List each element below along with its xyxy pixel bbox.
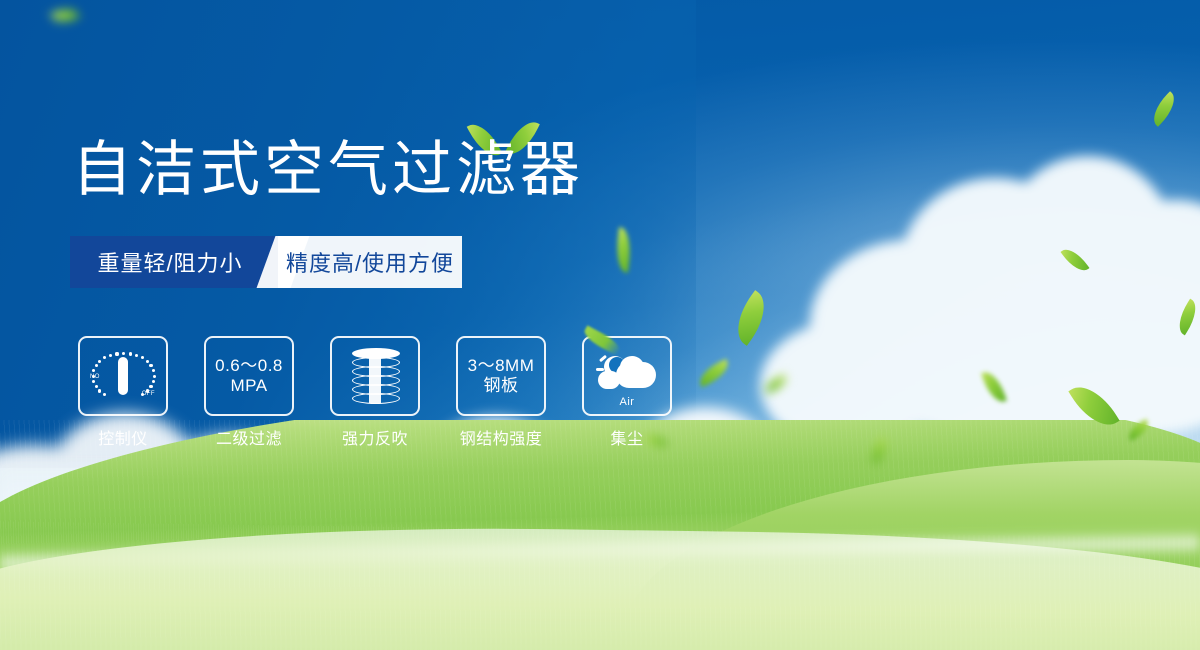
feature-icon-box: 3～8MM 钢板 <box>456 336 546 416</box>
feature-icon-box: NO OFF <box>78 336 168 416</box>
feature-icon-box: Air <box>582 336 672 416</box>
steel-material: 钢板 <box>468 376 535 396</box>
filter-coil-icon <box>349 347 401 405</box>
feature-label: 二级过滤 <box>216 425 282 449</box>
cloud-main-body <box>616 362 656 388</box>
feature-label: 钢结构强度 <box>460 425 543 449</box>
grass-foreground-texture <box>0 520 1200 650</box>
grass-foreground <box>0 520 1200 650</box>
steel-thickness: 3～8MM <box>468 356 535 375</box>
pressure-unit: MPA <box>215 376 283 396</box>
feature-label: 控制仪 <box>98 425 148 449</box>
subtitle-secondary-panel: 精度高/使用方便 <box>278 236 462 288</box>
pressure-range: 0.6～0.8 <box>215 356 283 375</box>
feature-item-steel[interactable]: 3～8MM 钢板 钢结构强度 <box>458 336 544 449</box>
feature-item-filtration[interactable]: 0.6～0.8 MPA 二级过滤 <box>206 336 292 449</box>
feature-icon-box <box>330 336 420 416</box>
feature-item-backblow[interactable]: 强力反吹 <box>332 336 418 449</box>
subtitle-secondary-text: 精度高/使用方便 <box>286 246 454 278</box>
air-cloud-icon: Air <box>596 348 658 404</box>
feature-item-controller[interactable]: NO OFF 控制仪 <box>80 336 166 449</box>
steel-plate-text-icon: 3～8MM 钢板 <box>468 356 535 396</box>
feature-list: NO OFF 控制仪 0.6～0.8 MPA 二级过滤 <box>80 336 670 449</box>
gauge-on-label: NO <box>90 374 100 380</box>
feature-label: 强力反吹 <box>342 425 408 449</box>
air-badge-label: Air <box>596 396 658 408</box>
feature-item-dust[interactable]: Air 集尘 <box>584 336 670 449</box>
gauge-off-label: OFF <box>142 391 155 397</box>
grass-field <box>0 420 1200 650</box>
page-title: 自洁式空气过滤器 <box>72 140 584 200</box>
pressure-text-icon: 0.6～0.8 MPA <box>215 356 283 396</box>
subtitle-primary-panel: 重量轻/阻力小 <box>70 236 270 288</box>
feature-icon-box: 0.6～0.8 MPA <box>204 336 294 416</box>
feature-label: 集尘 <box>610 425 643 449</box>
gauge-dial-icon: NO OFF <box>92 348 154 404</box>
subtitle-primary-text: 重量轻/阻力小 <box>97 246 242 278</box>
product-banner: 自洁式空气过滤器 重量轻/阻力小 精度高/使用方便 <box>0 0 1200 650</box>
gauge-needle <box>118 357 128 395</box>
